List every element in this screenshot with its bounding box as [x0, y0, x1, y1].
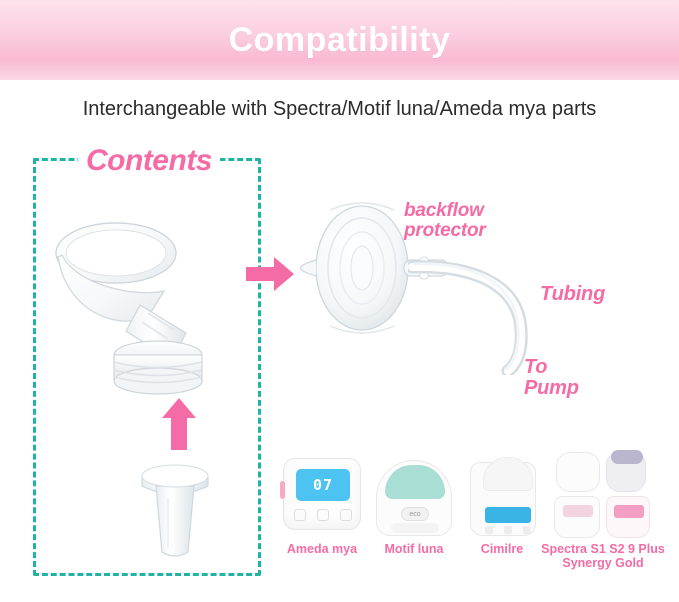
spectra-image-group — [538, 448, 668, 542]
label-to-pump: To Pump — [524, 357, 579, 399]
cimilre-button-2 — [504, 526, 512, 534]
cimilre-screen — [485, 507, 531, 523]
label-backflow-protector: backflow protector — [404, 201, 486, 241]
spectra-unit-b — [606, 454, 646, 492]
breast-shield-flange-illustration — [52, 205, 232, 395]
pump-caption-ameda-mya: Ameda mya — [276, 542, 368, 556]
cimilre-button-3 — [523, 526, 531, 534]
up-arrow-icon — [162, 398, 196, 450]
pump-caption-motif-luna: Motif luna — [368, 542, 460, 556]
pump-caption-spectra-line1: Spectra S1 S2 9 Plus — [538, 542, 668, 556]
right-arrow-icon — [246, 257, 294, 291]
label-backflow-line2: protector — [404, 221, 486, 241]
pump-caption-spectra-line2: Synergy Gold — [538, 556, 668, 570]
cimilre-button-1 — [485, 526, 493, 534]
ameda-screen-value: 07 — [296, 469, 350, 501]
contents-label: Contents — [78, 144, 220, 178]
motif-dial-text: eco — [401, 507, 429, 521]
ameda-button-1 — [294, 509, 306, 521]
compatibility-subtitle: Interchangeable with Spectra/Motif luna/… — [0, 98, 679, 121]
spectra-unit-d — [606, 496, 650, 538]
valve-membrane-illustration — [138, 462, 212, 558]
pump-item-motif-luna: eco Motif luna — [368, 454, 460, 556]
header-banner: Compatibility — [0, 0, 679, 80]
ameda-button-3 — [340, 509, 352, 521]
cimilre-image — [460, 454, 544, 542]
label-to-pump-line1: To — [524, 357, 579, 378]
pump-item-cimilre: Cimilre — [460, 454, 544, 556]
motif-luna-image: eco — [368, 454, 460, 542]
pump-item-spectra: Spectra S1 S2 9 Plus Synergy Gold — [538, 448, 668, 571]
label-backflow-line1: backflow — [404, 201, 486, 221]
spectra-unit-c — [554, 496, 600, 538]
page-title: Compatibility — [229, 21, 451, 60]
ameda-mya-image: 07 — [276, 458, 368, 542]
ameda-button-2 — [317, 509, 329, 521]
pump-caption-cimilre: Cimilre — [460, 542, 544, 556]
pump-item-ameda-mya: 07 Ameda mya — [276, 458, 368, 556]
spectra-unit-a — [556, 452, 600, 492]
label-tubing: Tubing — [540, 284, 605, 305]
compatible-pumps-row: 07 Ameda mya eco Motif luna — [276, 448, 668, 600]
label-to-pump-line2: Pump — [524, 378, 579, 399]
